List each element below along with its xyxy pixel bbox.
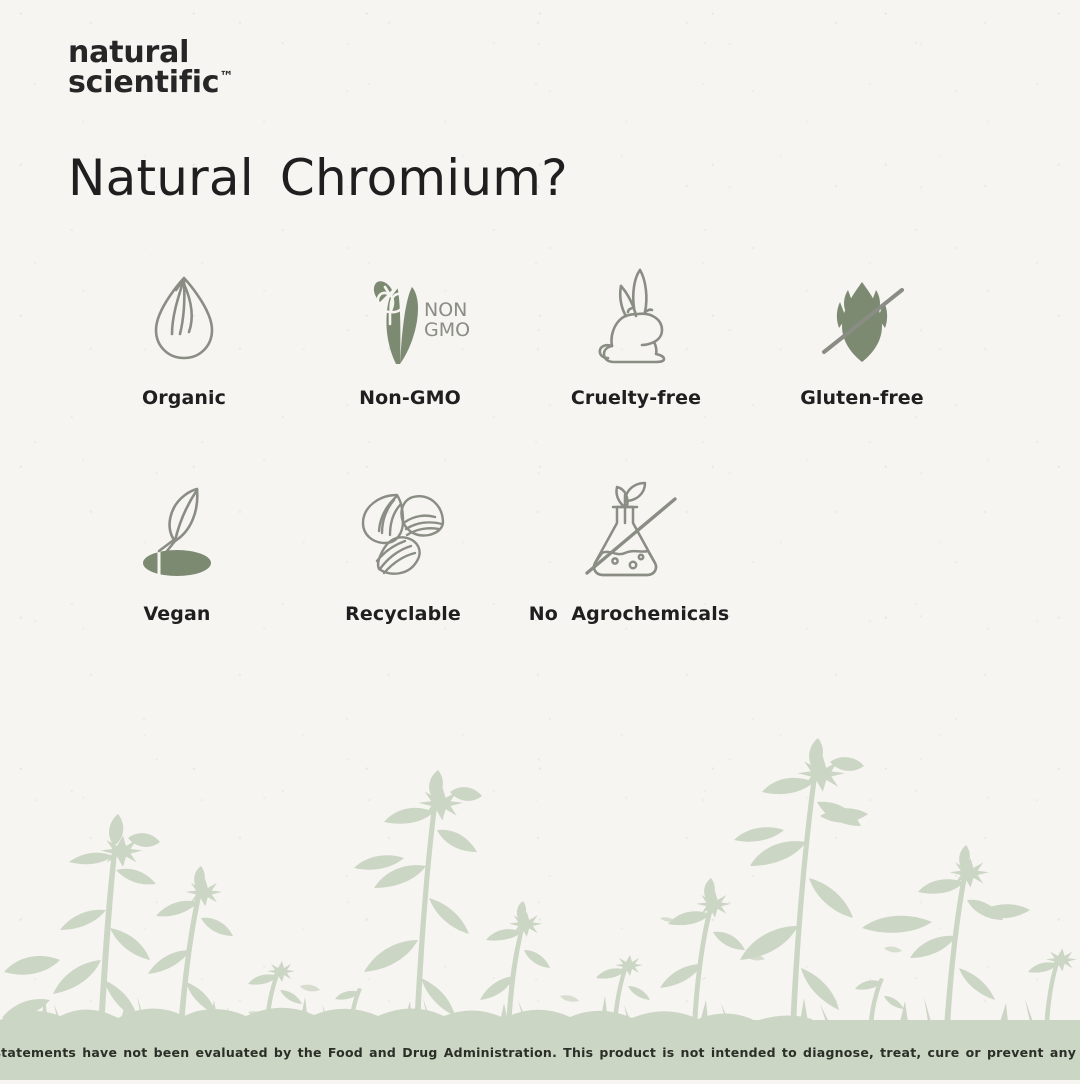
non-gmo-butterfly-leaf-icon: NON GMO xyxy=(350,268,470,368)
badge-cruelty-free: Cruelty-free xyxy=(523,268,749,409)
badge-organic: Organic xyxy=(71,268,297,409)
badge-row-1: Organic xyxy=(0,268,1080,409)
brand-logo: natural scientific™ xyxy=(68,38,233,98)
badge-label: No Agrochemicals xyxy=(529,603,730,625)
sprout-leaf-icon xyxy=(129,481,225,581)
flask-crossed-out-icon xyxy=(571,481,687,581)
botanical-silhouette-illustration xyxy=(0,660,1080,1080)
disclaimer-text: *These statements have not been evaluate… xyxy=(0,1045,1080,1060)
badge-label: Organic xyxy=(142,387,226,409)
footer-disclaimer-band: *These statements have not been evaluate… xyxy=(0,1024,1080,1080)
brand-name-line2: scientific™ xyxy=(68,68,233,98)
badge-vegan: Vegan xyxy=(64,481,290,625)
non-gmo-text-line2: GMO xyxy=(424,319,470,341)
page-title: Natural Chromium? xyxy=(68,148,568,208)
badge-row-2: Vegan xyxy=(0,481,1080,625)
badge-label: Cruelty-free xyxy=(571,387,701,409)
badge-label: Non-GMO xyxy=(359,387,461,409)
brand-name-line1: natural xyxy=(68,38,233,68)
certification-badges: Organic xyxy=(0,268,1080,625)
badge-label: Gluten-free xyxy=(800,387,924,409)
brand-name-line2-text: scientific xyxy=(68,65,219,100)
product-infographic: natural scientific™ Natural Chromium? xyxy=(0,0,1080,1080)
trademark-symbol: ™ xyxy=(219,69,233,85)
badge-recyclable: Recyclable xyxy=(290,481,516,625)
badge-label: Vegan xyxy=(144,603,211,625)
badge-no-agrochemicals: No Agrochemicals xyxy=(516,481,742,625)
recycle-leaves-icon xyxy=(353,481,453,581)
non-gmo-text-line1: NON xyxy=(424,299,467,321)
organic-leaf-drop-icon xyxy=(142,268,226,368)
badge-gluten-free: Gluten-free xyxy=(749,268,975,409)
rabbit-icon xyxy=(588,268,684,368)
wheat-crossed-out-icon xyxy=(810,268,914,368)
badge-non-gmo: NON GMO Non-GMO xyxy=(297,268,523,409)
badge-label: Recyclable xyxy=(345,603,461,625)
